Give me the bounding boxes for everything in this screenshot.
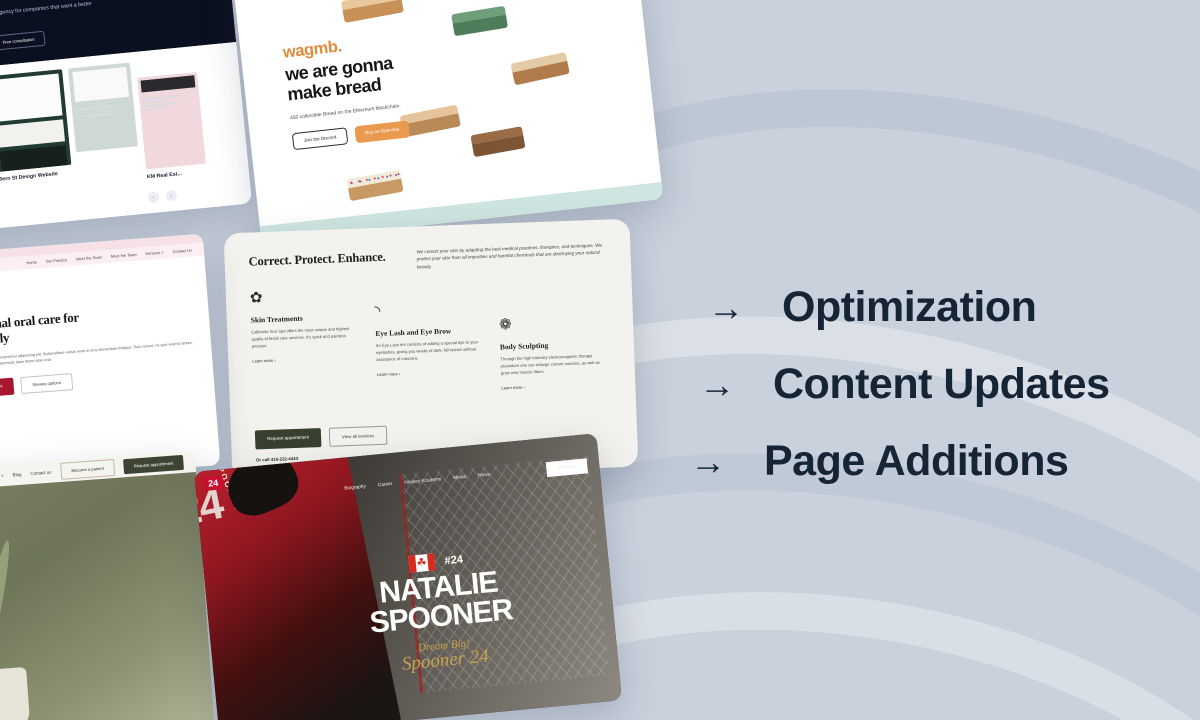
review-options-button[interactable]: Review options bbox=[20, 373, 74, 394]
skincare-service-columns: ✿ Skin Treatments California Sun Spa off… bbox=[225, 263, 635, 401]
canada-flag-icon: ☘ bbox=[408, 553, 436, 572]
nav-item-media[interactable]: Media bbox=[453, 475, 466, 481]
carousel-next-button[interactable]: › bbox=[165, 190, 177, 202]
dental-hero: Seagate Dental Centre Professional oral … bbox=[0, 256, 219, 471]
nav-item-hockey-academy[interactable]: Hockey Academy bbox=[404, 477, 441, 486]
service-body: Through the high intensity electromagnet… bbox=[500, 353, 609, 377]
webflow-card-list: ...bsite Bern St Design Website bbox=[0, 53, 241, 202]
service-heading: Eye Lash and Eye Brow bbox=[375, 325, 483, 338]
service-column-body-sculpting: ❁ Body Sculpting Through the high intens… bbox=[499, 314, 610, 391]
refresh-hero: Refresh. Imagine. We deliver services to… bbox=[0, 472, 217, 720]
service-list: → Optimization → Content Updates → Page … bbox=[690, 286, 1150, 517]
webflow-carousel-controls: ‹ › bbox=[147, 190, 177, 204]
dental-hero-copy: Seagate Dental Centre Professional oral … bbox=[0, 256, 219, 467]
nav-item-our-practice[interactable]: Our Practice bbox=[46, 257, 68, 264]
eye-icon: ◝ bbox=[374, 300, 482, 319]
webflow-portfolio-card[interactable]: KM Real Est... bbox=[136, 56, 207, 180]
service-item-label: Page Additions bbox=[764, 440, 1068, 483]
refresh-headline: Refresh. Imagine. bbox=[0, 563, 32, 620]
nav-item-home[interactable]: Home bbox=[26, 259, 37, 265]
learn-more-link[interactable]: Learn more › bbox=[377, 368, 485, 377]
service-body: California Sun Spa offers the most uniqu… bbox=[251, 326, 360, 350]
jersey-number: #24 bbox=[444, 553, 463, 567]
refresh-cta-wrap: Become a patient bbox=[0, 643, 36, 673]
bread-loaf-icon bbox=[341, 0, 404, 23]
maple-leaf-glyph: ☘ bbox=[416, 557, 427, 569]
bread-loaf-icon bbox=[510, 52, 569, 85]
service-column-skin-treatments: ✿ Skin Treatments California Sun Spa off… bbox=[250, 287, 362, 400]
muscle-icon: ❁ bbox=[499, 314, 607, 333]
mockup-refresh-imagine: Services ˅ Blog Contact us Become a pati… bbox=[0, 450, 217, 720]
join-discord-button[interactable]: Join the Discord bbox=[292, 127, 348, 150]
nav-item-biography[interactable]: Biography bbox=[344, 485, 366, 492]
portfolio-card-caption: Bern St Design Website bbox=[0, 170, 72, 183]
nav-item-meet-the-team[interactable]: Meet the Team bbox=[76, 254, 102, 261]
refresh-hero-copy: Refresh. Imagine. We deliver services to… bbox=[0, 563, 37, 689]
arrow-right-icon: → bbox=[699, 367, 739, 403]
view-all-services-button[interactable]: View all services bbox=[329, 426, 388, 447]
service-item-label: Content Updates bbox=[773, 363, 1110, 406]
learn-more-link[interactable]: Learn more › bbox=[501, 382, 609, 391]
learn-more-link[interactable]: Learn more › bbox=[252, 355, 360, 364]
service-item-page-additions[interactable]: → Page Additions bbox=[690, 440, 1150, 483]
request-appointment-button[interactable]: Request appointment bbox=[123, 454, 184, 473]
buy-on-opensea-button[interactable]: Buy on Opensea bbox=[354, 121, 410, 144]
service-body: An Eye Lash tint consists of adding a sp… bbox=[376, 339, 485, 363]
nav-item-services[interactable]: Services ˅ bbox=[0, 473, 4, 479]
free-consultation-button[interactable]: Free consultation bbox=[0, 30, 45, 50]
become-a-patient-button[interactable]: Become a patient bbox=[60, 458, 116, 479]
nav-item-contact-us[interactable]: Contact us bbox=[30, 469, 51, 476]
carousel-prev-button[interactable]: ‹ bbox=[147, 191, 159, 203]
refresh-body-text: We deliver services to our clients throu… bbox=[0, 619, 3, 643]
service-item-optimization[interactable]: → Optimization bbox=[708, 286, 1150, 329]
service-column-eye-lash: ◝ Eye Lash and Eye Brow An Eye Lash tint… bbox=[374, 300, 485, 395]
bread-hero-copy: wagmb. we are gonna make bread 450 colle… bbox=[282, 23, 483, 150]
nav-item-services[interactable]: Services ˅ bbox=[145, 250, 164, 256]
service-heading: Skin Treatments bbox=[251, 312, 359, 325]
refresh-headline-line-2: Imagine. bbox=[0, 585, 32, 620]
nav-item-blog[interactable]: Blog bbox=[12, 471, 21, 477]
portfolio-card-caption: KM Real Est... bbox=[147, 169, 207, 181]
nav-item-meet-the-team-2[interactable]: Meet the Team bbox=[111, 252, 137, 259]
webflow-portfolio-strip: ...bsite Bern St Design Website bbox=[0, 42, 252, 235]
bread-loaf-icon bbox=[470, 126, 525, 157]
request-appointment-button[interactable]: Request appointment bbox=[255, 428, 321, 449]
bread-loaf-icon bbox=[346, 170, 403, 201]
service-item-label: Optimization bbox=[782, 286, 1036, 329]
arrow-right-icon: → bbox=[708, 290, 748, 326]
service-heading: Body Sculpting bbox=[500, 339, 608, 352]
site-logo[interactable]: 24 bbox=[203, 475, 224, 491]
mockup-webflow-agency: ...with an easy to manage Webflow site. … bbox=[0, 0, 252, 235]
portfolio-thumbnail bbox=[137, 72, 206, 169]
hockey-hero-copy: ☘ #24 NATALIE SPOONER Dream Big! Spooner… bbox=[316, 542, 566, 683]
portfolio-thumbnail bbox=[68, 63, 138, 153]
flower-icon: ✿ bbox=[250, 287, 358, 306]
nav-item-career[interactable]: Career bbox=[378, 482, 393, 488]
service-item-content-updates[interactable]: → Content Updates bbox=[699, 363, 1150, 406]
arrow-right-icon: → bbox=[690, 444, 730, 480]
request-appointment-button[interactable]: Request appointment bbox=[0, 377, 14, 399]
nav-item-news[interactable]: News bbox=[478, 473, 490, 479]
webflow-portfolio-card[interactable] bbox=[68, 63, 138, 153]
portfolio-thumbnail bbox=[0, 69, 71, 172]
nav-item-contact-us[interactable]: Contact Us bbox=[172, 248, 192, 254]
skincare-cta-group: Request appointment View all services bbox=[255, 426, 388, 450]
mockup-natalie-spooner: 24 SPOONER 24 Biography Career Hockey Ac… bbox=[194, 433, 622, 720]
webflow-portfolio-card[interactable]: Bern St Design Website bbox=[0, 69, 72, 183]
